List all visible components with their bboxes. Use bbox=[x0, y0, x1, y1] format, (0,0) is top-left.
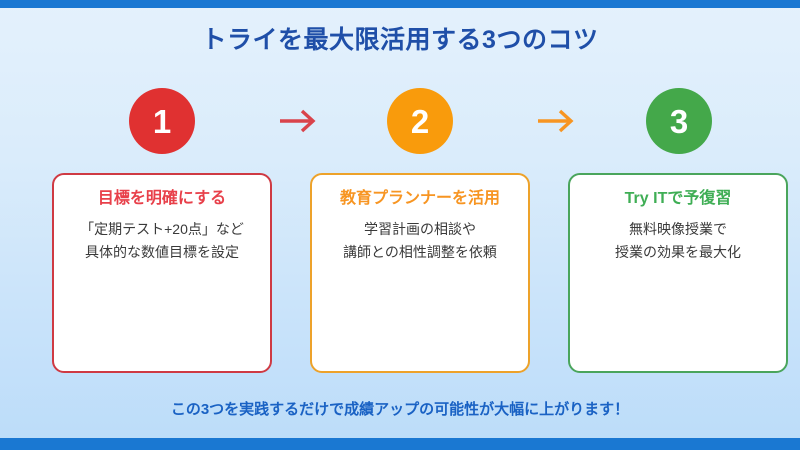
tip-card-3: Try ITで予復習 無料映像授業で 授業の効果を最大化 bbox=[568, 173, 788, 373]
tip-card-1-body: 「定期テスト+20点」など 具体的な数値目標を設定 bbox=[54, 218, 270, 264]
step-number-2: 2 bbox=[411, 105, 429, 138]
tip-card-1-body-line-1: 「定期テスト+20点」など bbox=[54, 218, 270, 241]
page-title: トライを最大限活用する3つのコツ bbox=[0, 20, 800, 56]
step-circle-2: 2 bbox=[387, 88, 453, 154]
step-circle-3: 3 bbox=[646, 88, 712, 154]
step-circles-row: 1 2 3 bbox=[0, 88, 800, 156]
slide-canvas: トライを最大限活用する3つのコツ 1 2 3 目標を明確にする bbox=[0, 0, 800, 450]
summary-footnote: この3つを実践するだけで成績アップの可能性が大幅に上がります！ bbox=[0, 398, 800, 419]
tip-card-1-heading: 目標を明確にする bbox=[54, 189, 270, 208]
top-accent-bar bbox=[0, 0, 800, 8]
tip-card-1-body-line-2: 具体的な数値目標を設定 bbox=[54, 241, 270, 264]
arrow-right-icon-1 bbox=[276, 102, 320, 140]
tip-card-2-body-line-1: 学習計画の相談や bbox=[312, 218, 528, 241]
tip-card-3-body-line-1: 無料映像授業で bbox=[570, 218, 786, 241]
tip-card-3-body-line-2: 授業の効果を最大化 bbox=[570, 241, 786, 264]
tip-card-2-body-line-2: 講師との相性調整を依頼 bbox=[312, 241, 528, 264]
tip-card-1: 目標を明確にする 「定期テスト+20点」など 具体的な数値目標を設定 bbox=[52, 173, 272, 373]
tip-card-3-heading: Try ITで予復習 bbox=[570, 189, 786, 208]
tips-card-group: 目標を明確にする 「定期テスト+20点」など 具体的な数値目標を設定 教育プラン… bbox=[0, 173, 800, 374]
tip-card-3-body: 無料映像授業で 授業の効果を最大化 bbox=[570, 218, 786, 264]
step-number-1: 1 bbox=[153, 105, 171, 138]
bottom-accent-bar bbox=[0, 438, 800, 450]
step-number-3: 3 bbox=[670, 105, 688, 138]
tip-card-2: 教育プランナーを活用 学習計画の相談や 講師との相性調整を依頼 bbox=[310, 173, 530, 373]
arrow-right-icon-2 bbox=[534, 102, 578, 140]
step-circle-1: 1 bbox=[129, 88, 195, 154]
tip-card-2-body: 学習計画の相談や 講師との相性調整を依頼 bbox=[312, 218, 528, 264]
tip-card-2-heading: 教育プランナーを活用 bbox=[312, 189, 528, 208]
